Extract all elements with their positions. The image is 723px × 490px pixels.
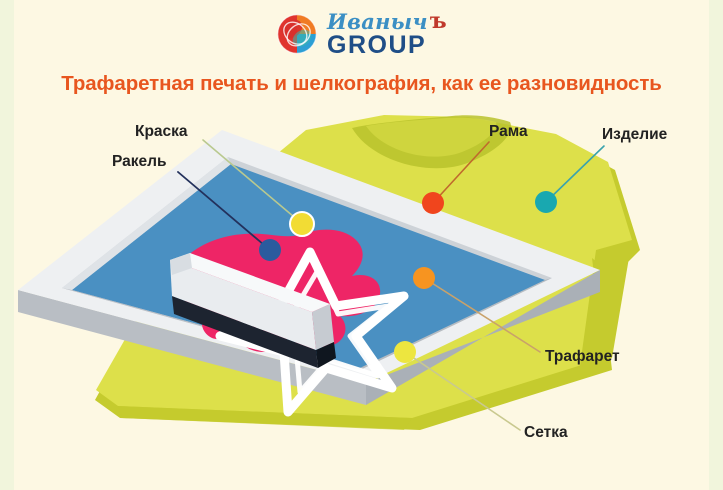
infographic-page: Иванычъ GROUP Трафаретная печать и шелко… bbox=[0, 0, 723, 490]
logo-group-word: GROUP bbox=[327, 33, 426, 58]
brand-logo[interactable]: Иванычъ GROUP bbox=[0, 8, 723, 60]
page-title: Трафаретная печать и шелкография, как ее… bbox=[0, 72, 723, 96]
callout-label-izdelie: Изделие bbox=[602, 126, 667, 144]
callout-dot-trafaret[interactable] bbox=[413, 267, 435, 289]
callout-label-setka: Сетка bbox=[524, 424, 568, 442]
screen-printing-illustration bbox=[0, 100, 723, 490]
callout-label-rakel: Ракель bbox=[112, 153, 167, 171]
callout-dot-kraska[interactable] bbox=[289, 211, 315, 237]
callout-dot-izdelie[interactable] bbox=[535, 191, 557, 213]
logo-hard-sign: ъ bbox=[430, 10, 447, 32]
screen-printing-scene bbox=[0, 100, 723, 490]
logo-wordmark: Иванычъ GROUP bbox=[327, 10, 447, 58]
callout-dot-rakel[interactable] bbox=[259, 239, 281, 261]
callout-label-trafaret: Трафарет bbox=[545, 348, 620, 366]
logo-script-main: Иваныч bbox=[327, 11, 428, 32]
ivanych-group-emblem-icon bbox=[276, 13, 318, 55]
callout-dot-setka[interactable] bbox=[394, 341, 416, 363]
callout-label-rama: Рама bbox=[489, 123, 528, 141]
logo-script-text: Иванычъ bbox=[327, 10, 447, 32]
callout-label-kraska: Краска bbox=[135, 123, 188, 141]
callout-dot-rama[interactable] bbox=[422, 192, 444, 214]
